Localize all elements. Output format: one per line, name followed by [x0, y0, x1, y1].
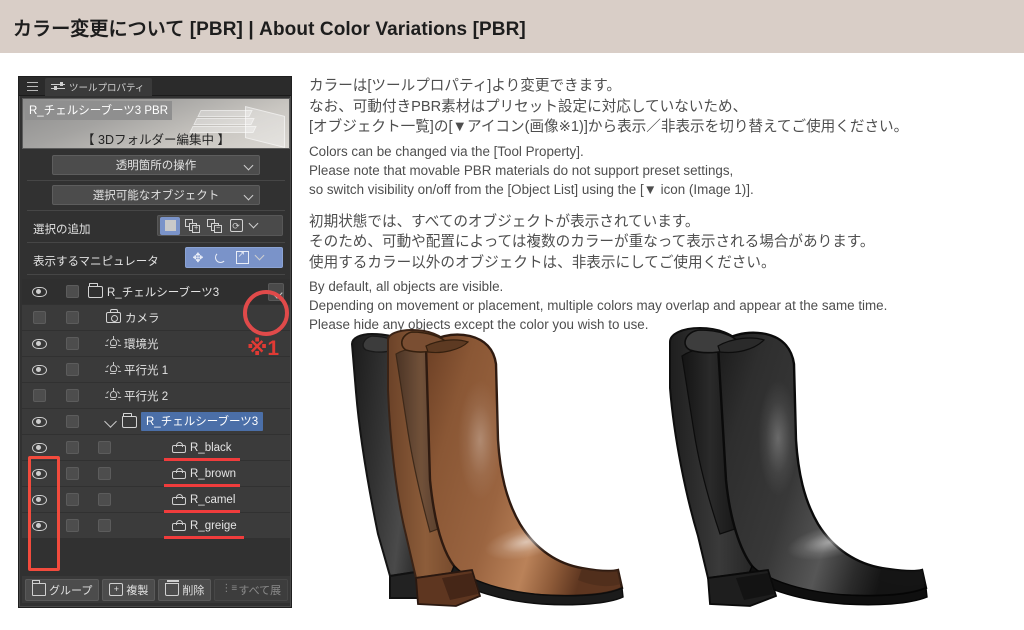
row-checkbox[interactable] — [56, 363, 88, 376]
desc-ja-2-line-3: 使用するカラー以外のオブジェクトは、非表示にしてご使用ください。 — [309, 253, 1015, 274]
hamburger-icon[interactable] — [27, 82, 38, 91]
refresh-selection-icon[interactable]: ⟳ — [226, 217, 246, 235]
visibility-toggle[interactable] — [22, 417, 56, 427]
desc-en-1-line-2: Please note that movable PBR materials d… — [309, 161, 1015, 180]
visibility-toggle[interactable] — [22, 365, 56, 375]
object-node[interactable]: 平行光 2 — [106, 388, 168, 404]
annotation-note-marker: ※1 — [247, 338, 279, 359]
object-name-label: 環境光 — [124, 336, 159, 352]
divider-3 — [27, 242, 285, 243]
page-root: カラー変更について [PBR] | About Color Variations… — [0, 0, 1024, 630]
combo-selectable-objects-label: 選択可能なオブジェクト — [93, 187, 220, 203]
chevron-down-icon[interactable] — [104, 415, 117, 428]
manipulator-button-group: ✥ — [185, 247, 283, 268]
object-node[interactable]: R_brown — [172, 468, 236, 480]
row-checkbox[interactable] — [56, 493, 88, 506]
desc-ja-2-line-2: そのため、可動や配置によっては複数のカラーが重なって表示される場合があります。 — [309, 232, 1015, 253]
combo-selectable-objects[interactable]: 選択可能なオブジェクト — [52, 185, 260, 205]
eye-off-icon — [33, 311, 46, 324]
object-name-label: R_チェルシーブーツ3 — [107, 284, 219, 300]
chevron-down-icon[interactable] — [255, 251, 265, 261]
scale-icon[interactable] — [232, 249, 252, 267]
tab-tool-property[interactable]: ツールプロパティ — [45, 78, 152, 96]
annotation-circle-row-chevron — [243, 290, 289, 336]
black-boot — [670, 328, 927, 606]
eye-icon — [32, 365, 47, 375]
row-checkbox-secondary[interactable] — [88, 519, 120, 532]
row-checkbox[interactable] — [56, 441, 88, 454]
light-icon — [106, 363, 120, 376]
object-name-label: R_greige — [190, 520, 237, 532]
desc-ja-1-line-3: [オブジェクト一覧]の[▼アイコン(画像※1)]から表示／非表示を切り替えてご使… — [309, 117, 1015, 138]
toolbar-button: ⋮≡すべて展 — [214, 579, 288, 601]
row-checkbox-secondary[interactable] — [88, 441, 120, 454]
object-list-toolbar: グループ+複製削除⋮≡すべて展 — [22, 576, 290, 603]
object-icon — [172, 468, 186, 479]
trash-icon — [165, 583, 179, 596]
object-name-label: R_チェルシーブーツ3 — [141, 412, 263, 431]
object-list-row[interactable]: R_greige — [22, 513, 290, 539]
object-node[interactable]: R_チェルシーブーツ3 — [106, 412, 263, 431]
object-name-label: R_brown — [190, 468, 236, 480]
subtract-selection-icon[interactable]: − — [204, 217, 224, 235]
row-checkbox[interactable] — [56, 285, 88, 298]
row-checkbox-secondary[interactable] — [88, 493, 120, 506]
object-list-row[interactable]: R_black — [22, 435, 290, 461]
object-list-row[interactable]: R_チェルシーブーツ3 — [22, 409, 290, 435]
eye-icon — [32, 287, 47, 297]
desc-ja-1-line-2: なお、可動付きPBR素材はプリセット設定に対応していないため、 — [309, 97, 1015, 118]
tab-label: ツールプロパティ — [69, 80, 144, 94]
object-name-label: 平行光 1 — [124, 362, 168, 378]
object-icon — [172, 442, 186, 453]
selectable-objects-row: 選択可能なオブジェクト — [22, 185, 290, 207]
boots-svg — [330, 320, 1010, 620]
transparency-row: 透明箇所の操作 — [22, 155, 290, 177]
desc-en-1-line-1: Colors can be changed via the [Tool Prop… — [309, 142, 1015, 161]
duplicate-icon: + — [109, 583, 123, 596]
object-list-row[interactable]: R_camel — [22, 487, 290, 513]
eye-off-icon — [33, 389, 46, 402]
desc-ja-2-line-1: 初期状態では、すべてのオブジェクトが表示されています。 — [309, 212, 1015, 233]
object-icon — [172, 520, 186, 531]
row-checkbox[interactable] — [56, 519, 88, 532]
object-icon — [172, 494, 186, 505]
annotation-underline — [164, 510, 240, 513]
rotate-icon[interactable] — [210, 249, 230, 267]
light-icon — [106, 337, 120, 350]
object-name-label: R_camel — [190, 494, 235, 506]
object-name-label: カメラ — [125, 310, 160, 326]
boot-renders — [330, 320, 1010, 620]
row-checkbox[interactable] — [56, 467, 88, 480]
chevron-down-icon — [244, 191, 254, 201]
solid-square-icon[interactable] — [160, 217, 180, 235]
row-checkbox[interactable] — [56, 415, 88, 428]
expand-all-icon: ⋮≡ — [221, 583, 235, 596]
description-text: カラーは[ツールプロパティ]より変更できます。 なお、可動付きPBR素材はプリセ… — [309, 76, 1015, 334]
object-node[interactable]: カメラ — [106, 310, 160, 326]
annotation-underline — [164, 536, 244, 539]
combo-transparency[interactable]: 透明箇所の操作 — [52, 155, 260, 175]
eye-icon — [32, 443, 47, 453]
manipulator-label: 表示するマニピュレータ — [33, 253, 159, 269]
desc-en-2-line-2: Depending on movement or placement, mult… — [309, 296, 1015, 315]
object-list-row[interactable]: 平行光 2 — [22, 383, 290, 409]
preview-material-name: R_チェルシーブーツ3 PBR — [25, 101, 172, 120]
folder-add-icon — [32, 583, 46, 596]
annotation-underline — [164, 484, 240, 487]
preview-editing-label: 【 3Dフォルダー編集中 】 — [23, 129, 289, 148]
camera-icon — [106, 312, 121, 323]
object-list-row[interactable]: 平行光 1 — [22, 357, 290, 383]
toolbar-button[interactable]: 削除 — [158, 579, 211, 601]
add-selection-button-group: + − ⟳ — [157, 215, 283, 236]
object-name-label: 平行光 2 — [124, 388, 168, 404]
divider-4 — [27, 274, 285, 275]
panel-tab-bar: ツールプロパティ — [19, 77, 291, 96]
annotation-underline — [164, 458, 240, 461]
eye-icon — [32, 339, 47, 349]
object-node[interactable]: R_black — [172, 442, 232, 454]
visibility-toggle[interactable] — [22, 311, 56, 324]
desc-en-2-line-1: By default, all objects are visible. — [309, 277, 1015, 296]
divider-2 — [27, 210, 285, 211]
move-arrows-icon[interactable]: ✥ — [188, 249, 208, 267]
object-list-row[interactable]: R_brown — [22, 461, 290, 487]
desc-ja-1-line-1: カラーは[ツールプロパティ]より変更できます。 — [309, 76, 1015, 97]
add-selection-label: 選択の追加 — [33, 221, 91, 237]
row-checkbox[interactable] — [56, 337, 88, 350]
visibility-toggle[interactable] — [22, 443, 56, 453]
combo-transparency-label: 透明箇所の操作 — [116, 157, 197, 173]
chevron-down-icon — [244, 161, 254, 171]
row-checkbox-secondary[interactable] — [88, 467, 120, 480]
slider-icon — [51, 82, 65, 93]
light-icon — [106, 389, 120, 402]
page-title: カラー変更について [PBR] | About Color Variations… — [13, 14, 526, 41]
desc-en-1-line-3: so switch visibility on/off from the [Ob… — [309, 180, 1015, 199]
object-node[interactable]: 平行光 1 — [106, 362, 168, 378]
eye-icon — [32, 417, 47, 427]
object-name-label: R_black — [190, 442, 232, 454]
annotation-box-eye-column — [28, 456, 60, 571]
toolbar-button[interactable]: +複製 — [102, 579, 155, 601]
toolbar-button-label: すべて展 — [238, 582, 281, 598]
folder-icon — [88, 286, 103, 298]
divider-1 — [27, 180, 285, 181]
material-preview[interactable]: R_チェルシーブーツ3 PBR 【 3Dフォルダー編集中 】 — [22, 98, 290, 149]
toolbar-button-label: 複製 — [126, 582, 148, 598]
add-selection-icon[interactable]: + — [182, 217, 202, 235]
visibility-toggle[interactable] — [22, 287, 56, 297]
row-checkbox[interactable] — [56, 389, 88, 402]
row-checkbox[interactable] — [56, 311, 88, 324]
object-node[interactable]: 環境光 — [106, 336, 159, 352]
toolbar-button-label: グループ — [49, 582, 92, 598]
toolbar-button-label: 削除 — [182, 582, 204, 598]
chevron-down-icon[interactable] — [249, 219, 259, 229]
toolbar-button[interactable]: グループ — [25, 579, 99, 601]
folder-icon — [122, 416, 137, 428]
object-node[interactable]: R_チェルシーブーツ3 — [88, 284, 219, 300]
brown-boot — [352, 330, 623, 606]
visibility-toggle[interactable] — [22, 389, 56, 402]
object-node[interactable]: R_greige — [172, 520, 237, 532]
visibility-toggle[interactable] — [22, 339, 56, 349]
text-gap — [309, 199, 1015, 212]
object-node[interactable]: R_camel — [172, 494, 235, 506]
